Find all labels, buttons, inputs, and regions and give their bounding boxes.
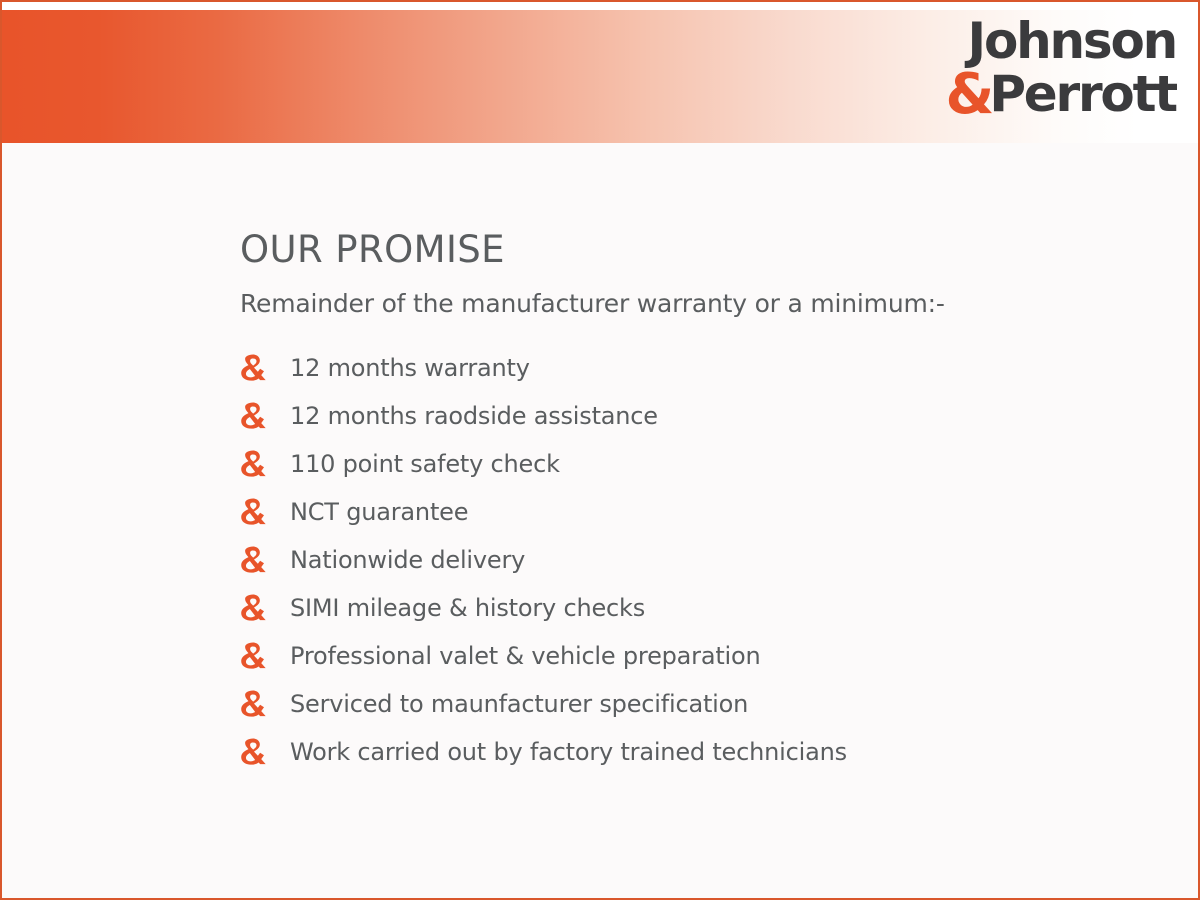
ampersand-bullet-icon xyxy=(240,738,290,768)
promise-item-label: Work carried out by factory trained tech… xyxy=(290,739,847,767)
ampersand-bullet-icon xyxy=(240,498,290,528)
list-item: NCT guarantee xyxy=(240,489,1160,537)
list-item: Serviced to maunfacturer specification xyxy=(240,681,1160,729)
list-item: 12 months warranty xyxy=(240,345,1160,393)
list-item: SIMI mileage & history checks xyxy=(240,585,1160,633)
brand-logo: Johnson &Perrott xyxy=(886,16,1176,136)
promise-item-label: SIMI mileage & history checks xyxy=(290,595,645,623)
logo-line-johnson: Johnson xyxy=(886,16,1176,66)
ampersand-bullet-icon xyxy=(240,402,290,432)
ampersand-bullet-icon xyxy=(240,546,290,576)
promise-list: 12 months warranty 12 months raodside as… xyxy=(240,345,1160,777)
page-title: OUR PROMISE xyxy=(240,230,1160,271)
list-item: Work carried out by factory trained tech… xyxy=(240,729,1160,777)
list-item: Professional valet & vehicle preparation xyxy=(240,633,1160,681)
logo-line-perrott: &Perrott xyxy=(886,67,1176,123)
promise-item-label: Professional valet & vehicle preparation xyxy=(290,643,761,671)
logo-perrott-text: Perrott xyxy=(989,65,1176,123)
promise-item-label: NCT guarantee xyxy=(290,499,468,527)
promise-page: Johnson &Perrott OUR PROMISE Remainder o… xyxy=(0,0,1200,900)
ampersand-bullet-icon xyxy=(240,594,290,624)
ampersand-bullet-icon xyxy=(240,354,290,384)
ampersand-bullet-icon xyxy=(240,642,290,672)
content-area: OUR PROMISE Remainder of the manufacture… xyxy=(240,230,1160,777)
list-item: Nationwide delivery xyxy=(240,537,1160,585)
promise-subtitle: Remainder of the manufacturer warranty o… xyxy=(240,289,1160,319)
promise-item-label: 12 months warranty xyxy=(290,355,530,383)
promise-item-label: Serviced to maunfacturer specification xyxy=(290,691,748,719)
promise-item-label: 12 months raodside assistance xyxy=(290,403,658,431)
ampersand-bullet-icon xyxy=(240,690,290,720)
promise-item-label: 110 point safety check xyxy=(290,451,560,479)
promise-item-label: Nationwide delivery xyxy=(290,547,525,575)
list-item: 110 point safety check xyxy=(240,441,1160,489)
list-item: 12 months raodside assistance xyxy=(240,393,1160,441)
ampersand-bullet-icon xyxy=(240,450,290,480)
logo-ampersand-icon: & xyxy=(946,62,990,127)
